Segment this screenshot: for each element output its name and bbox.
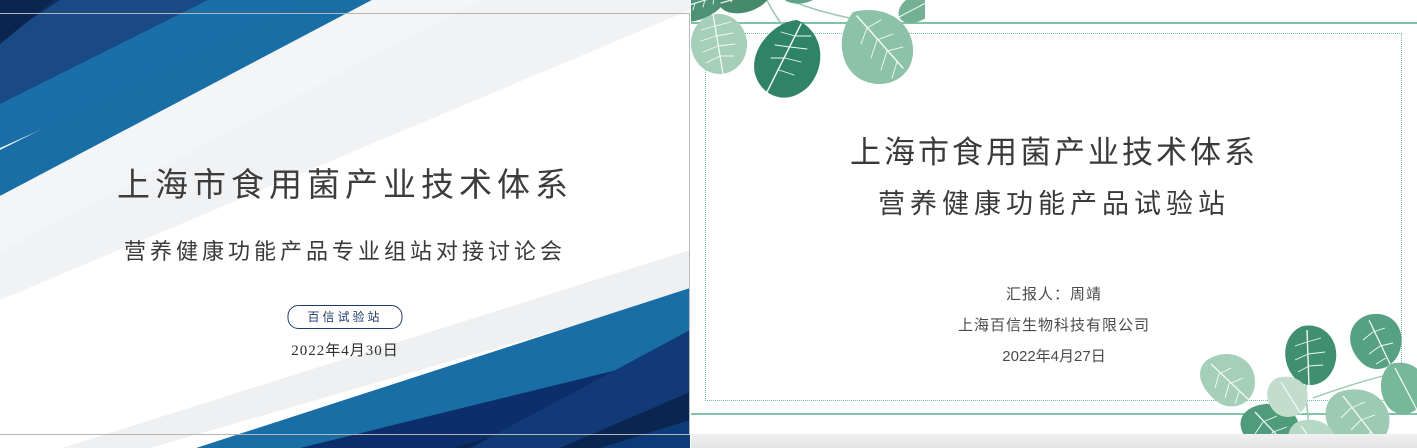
right-bottom-strip xyxy=(691,434,1417,448)
right-slide-subtitle: 营养健康功能产品试验站 xyxy=(691,182,1417,221)
left-slide-content: 上海市食用菌产业技术体系 营养健康功能产品专业组站对接讨论会 百信试验站 202… xyxy=(0,0,690,448)
left-slide-date: 2022年4月30日 xyxy=(0,339,690,360)
eucalyptus-leaves-top-left-icon xyxy=(691,0,925,136)
right-slide-presenter: 汇报人：周靖 xyxy=(691,283,1417,304)
left-slide-title: 上海市食用菌产业技术体系 xyxy=(0,158,690,206)
right-slide-company: 上海百信生物科技有限公司 xyxy=(691,314,1417,335)
right-slide-date: 2022年4月27日 xyxy=(691,345,1417,366)
right-slide-title: 上海市食用菌产业技术体系 xyxy=(691,127,1417,172)
slide-right[interactable]: 上海市食用菌产业技术体系 营养健康功能产品试验站 汇报人：周靖 上海百信生物科技… xyxy=(691,0,1417,448)
left-slide-badge: 百信试验站 xyxy=(287,305,402,329)
slides-stage: 上海市食用菌产业技术体系 营养健康功能产品专业组站对接讨论会 百信试验站 202… xyxy=(0,0,1417,448)
slide-left[interactable]: 上海市食用菌产业技术体系 营养健康功能产品专业组站对接讨论会 百信试验站 202… xyxy=(0,0,690,448)
left-slide-subtitle: 营养健康功能产品专业组站对接讨论会 xyxy=(0,234,690,266)
